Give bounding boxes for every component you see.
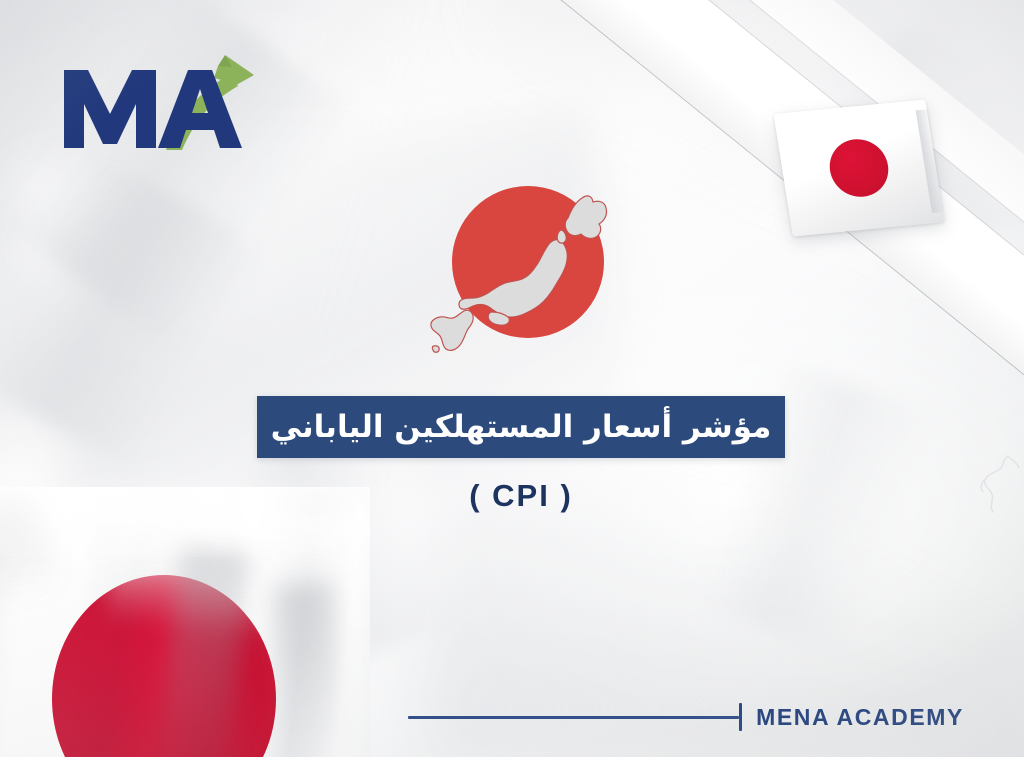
- footer-brand-name: MENA ACADEMY: [756, 704, 964, 731]
- ma-logo-icon: [62, 48, 272, 152]
- poster-canvas: مؤشر أسعار المستهلكين الياباني ( CPI ) M…: [0, 0, 1024, 757]
- japan-flag-icon: [774, 99, 945, 236]
- title-banner: مؤشر أسعار المستهلكين الياباني: [257, 396, 785, 458]
- faint-outline-sketch-icon: [978, 452, 1022, 516]
- footer-tick-mark: [739, 703, 742, 731]
- subtitle: ( CPI ): [257, 478, 785, 514]
- japan-map-icon: [416, 168, 626, 376]
- japan-flag-disc: [826, 137, 893, 200]
- brand-logo[interactable]: [62, 48, 272, 152]
- japan-emblem: [416, 168, 626, 376]
- page-title: مؤشر أسعار المستهلكين الياباني: [271, 412, 772, 443]
- japan-waving-flag-icon: [0, 487, 370, 757]
- footer: MENA ACADEMY: [408, 700, 964, 734]
- logo-letter-m: [64, 70, 156, 148]
- footer-divider-line: [408, 716, 739, 719]
